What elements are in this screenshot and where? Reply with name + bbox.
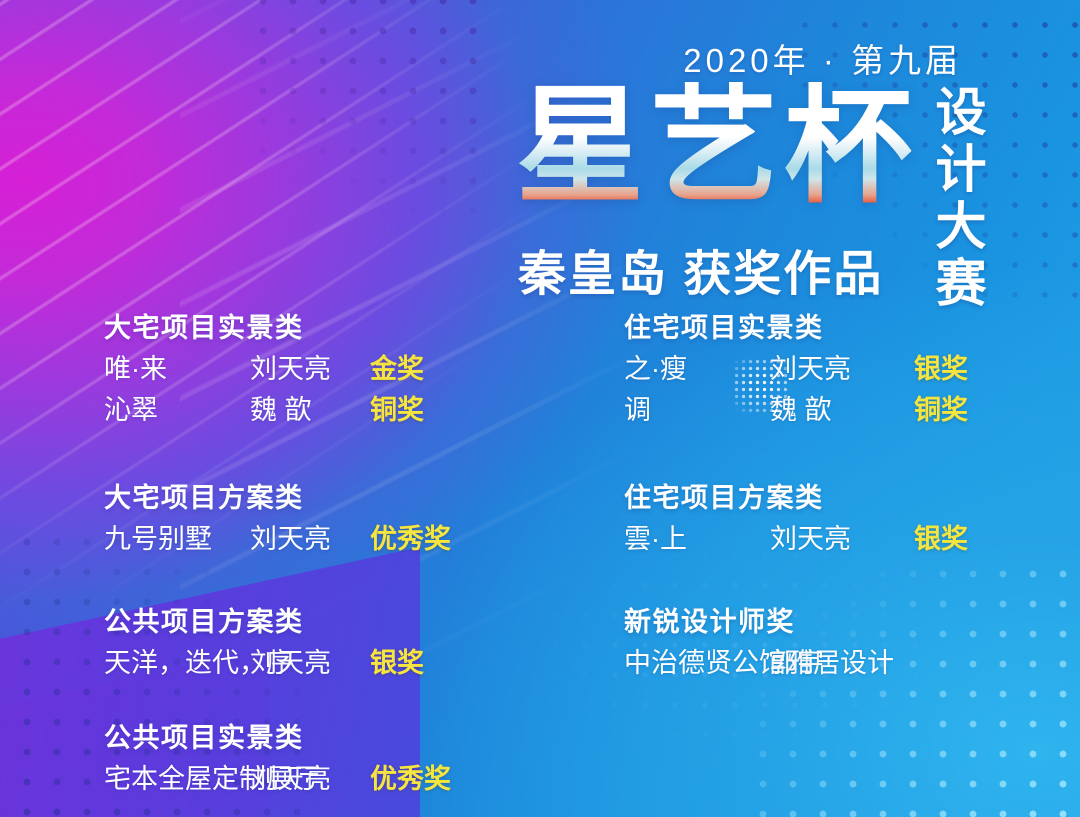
dot-grid-bottom-right-decoration — [748, 559, 1080, 817]
award-entry-row: 雲·上刘天亮银奖 — [624, 519, 824, 560]
vertical-title-char-2: 大 — [930, 198, 992, 255]
award-category: 公共项目实景类宅本全屋定制展厅刘天亮优秀奖 — [104, 716, 304, 800]
award-designer-name: 魏 歆 — [250, 390, 312, 431]
vertical-title-char-1: 计 — [930, 141, 992, 198]
award-category-title: 新锐设计师奖 — [624, 600, 795, 639]
award-designer-name: 刘天亮 — [770, 519, 851, 560]
award-prize-badge: 优秀奖 — [370, 519, 451, 560]
award-category: 公共项目方案类天洋，迭代，序刘天亮银奖 — [104, 600, 304, 684]
vertical-title-char-0: 设 — [930, 84, 992, 141]
award-designer-name: 刘天亮 — [250, 349, 331, 390]
award-category-title: 公共项目方案类 — [104, 600, 304, 639]
award-designer-name: 魏 歆 — [770, 390, 832, 431]
poster-title: 星艺杯 — [516, 82, 918, 213]
award-prize-badge: 铜奖 — [914, 390, 968, 431]
award-category: 住宅项目方案类雲·上刘天亮银奖 — [624, 476, 824, 560]
award-poster: 2020年 · 第九届 星艺杯 设计大赛 秦皇岛 获奖作品 大宅项目实景类唯·来… — [0, 0, 1080, 817]
award-category-title: 大宅项目实景类 — [104, 306, 304, 345]
award-category-title: 住宅项目方案类 — [624, 476, 824, 515]
award-designer-name: 刘天亮 — [250, 759, 331, 800]
award-entry-row: 调魏 歆铜奖 — [624, 390, 824, 431]
vertical-title-char-3: 赛 — [930, 255, 992, 312]
award-work-name: 沁翠 — [104, 390, 158, 431]
award-entry-row: 九号别墅刘天亮优秀奖 — [104, 519, 304, 560]
award-category: 新锐设计师奖中治德贤公馆雅居设计郭宇 — [624, 600, 795, 684]
award-prize-badge: 银奖 — [370, 643, 424, 684]
award-designer-name: 刘天亮 — [770, 349, 851, 390]
award-work-name: 之·瘦 — [624, 349, 687, 390]
award-designer-name: 刘天亮 — [250, 519, 331, 560]
award-work-name: 九号别墅 — [104, 519, 212, 560]
award-work-name: 唯·来 — [104, 349, 167, 390]
award-category: 住宅项目实景类之·瘦刘天亮银奖调魏 歆铜奖 — [624, 306, 824, 431]
award-work-name: 调 — [624, 390, 651, 431]
award-work-name: 中治德贤公馆雅居设计 — [624, 643, 894, 684]
award-entry-row: 之·瘦刘天亮银奖 — [624, 349, 824, 390]
award-category: 大宅项目方案类九号别墅刘天亮优秀奖 — [104, 476, 304, 560]
award-work-name: 雲·上 — [624, 519, 687, 560]
award-category-title: 公共项目实景类 — [104, 716, 304, 755]
award-prize-badge: 优秀奖 — [370, 759, 451, 800]
award-entry-row: 中治德贤公馆雅居设计郭宇 — [624, 643, 795, 684]
award-category: 大宅项目实景类唯·来刘天亮金奖沁翠魏 歆铜奖 — [104, 306, 304, 431]
award-category-title: 大宅项目方案类 — [104, 476, 304, 515]
award-category-title: 住宅项目实景类 — [624, 306, 824, 345]
award-prize-badge: 铜奖 — [370, 390, 424, 431]
poster-header: 2020年 · 第九届 星艺杯 设计大赛 秦皇岛 获奖作品 — [0, 0, 1080, 300]
vertical-title: 设计大赛 — [930, 84, 992, 312]
award-designer-name: 郭宇 — [770, 643, 824, 684]
award-prize-badge: 银奖 — [914, 519, 968, 560]
award-entry-row: 沁翠魏 歆铜奖 — [104, 390, 304, 431]
award-prize-badge: 金奖 — [370, 349, 424, 390]
award-entry-row: 天洋，迭代，序刘天亮银奖 — [104, 643, 304, 684]
poster-subtitle: 秦皇岛 获奖作品 — [518, 234, 883, 304]
award-designer-name: 刘天亮 — [250, 643, 331, 684]
award-entry-row: 唯·来刘天亮金奖 — [104, 349, 304, 390]
award-prize-badge: 银奖 — [914, 349, 968, 390]
award-entry-row: 宅本全屋定制展厅刘天亮优秀奖 — [104, 759, 304, 800]
